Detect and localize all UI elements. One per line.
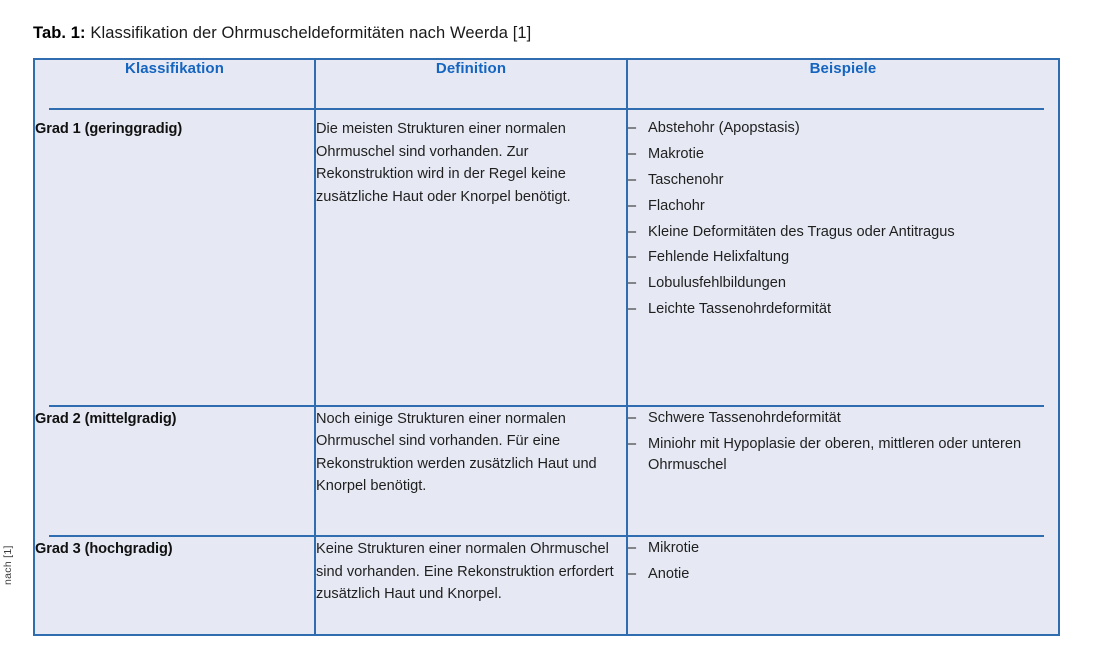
grade-label: Grad 1 (geringgradig) — [35, 121, 182, 137]
definition-text: Noch einige Strukturen einer normalen Oh… — [316, 411, 597, 495]
separator-line — [316, 535, 626, 537]
list-item: –Abstehohr (Apopstasis) — [628, 118, 1058, 140]
list-item-label: Schwere Tassenohrdeformität — [648, 408, 1058, 430]
table-caption: Tab. 1: Klassifikation der Ohrmuscheldef… — [33, 24, 531, 43]
list-item-label: Mikrotie — [648, 538, 1058, 560]
examples-list: –Schwere Tassenohrdeformität–Miniohr mit… — [628, 408, 1058, 478]
definition-text: Keine Strukturen einer normalen Ohrmusch… — [316, 541, 614, 602]
dash-bullet-icon: – — [628, 273, 636, 295]
header-rule-line — [49, 108, 314, 110]
header-rule-cell-3 — [627, 108, 1058, 118]
list-item: –Anotie — [628, 564, 1058, 586]
header-rule-cell-2 — [315, 108, 627, 118]
dash-bullet-icon: – — [628, 299, 636, 321]
list-item-label: Flachohr — [648, 196, 1058, 218]
list-item: –Taschenohr — [628, 170, 1058, 192]
table-row: Grad 2 (mittelgradig) Noch einige Strukt… — [35, 408, 1058, 536]
dash-bullet-icon: – — [628, 196, 636, 218]
list-item: –Kleine Deformitäten des Tragus oder Ant… — [628, 222, 1058, 244]
source-note: nach [1] — [2, 495, 14, 585]
cell-examples: –Abstehohr (Apopstasis)–Makrotie–Taschen… — [627, 118, 1058, 405]
separator-line — [316, 405, 626, 407]
cell-classification: Grad 2 (mittelgradig) — [35, 408, 315, 536]
table-row: Grad 3 (hochgradig) Keine Strukturen ein… — [35, 538, 1058, 634]
list-item: –Flachohr — [628, 196, 1058, 218]
list-item: –Mikrotie — [628, 538, 1058, 560]
list-item: –Leichte Tassenohrdeformität — [628, 299, 1058, 321]
list-item-label: Miniohr mit Hypoplasie der oberen, mittl… — [648, 434, 1058, 478]
list-item-label: Anotie — [648, 564, 1058, 586]
separator-line — [49, 405, 314, 407]
list-item: –Miniohr mit Hypoplasie der oberen, mitt… — [628, 434, 1058, 478]
caption-text: Klassifikation der Ohrmuscheldeformitäte… — [90, 24, 531, 42]
dash-bullet-icon: – — [628, 408, 636, 430]
dash-bullet-icon: – — [628, 118, 636, 140]
classification-table: Klassifikation Definition Beispiele Grad… — [33, 58, 1060, 636]
definition-text: Die meisten Strukturen einer normalen Oh… — [316, 121, 571, 205]
list-item-label: Makrotie — [648, 144, 1058, 166]
dash-bullet-icon: – — [628, 434, 636, 456]
table: Klassifikation Definition Beispiele Grad… — [35, 60, 1058, 634]
cell-examples: –Schwere Tassenohrdeformität–Miniohr mit… — [627, 408, 1058, 536]
grade-label: Grad 2 (mittelgradig) — [35, 411, 176, 427]
list-item-label: Fehlende Helixfaltung — [648, 247, 1058, 269]
dash-bullet-icon: – — [628, 247, 636, 269]
examples-list: –Mikrotie–Anotie — [628, 538, 1058, 586]
separator-line — [628, 405, 1044, 407]
cell-classification: Grad 1 (geringgradig) — [35, 118, 315, 405]
separator-line — [49, 535, 314, 537]
list-item-label: Abstehohr (Apopstasis) — [648, 118, 1058, 140]
dash-bullet-icon: – — [628, 222, 636, 244]
list-item: –Lobulusfehlbildungen — [628, 273, 1058, 295]
cell-examples: –Mikrotie–Anotie — [627, 538, 1058, 634]
header-rule-cell-1 — [35, 108, 315, 118]
dash-bullet-icon: – — [628, 538, 636, 560]
list-item-label: Taschenohr — [648, 170, 1058, 192]
caption-label: Tab. 1: — [33, 24, 86, 42]
header-rule-line — [316, 108, 626, 110]
examples-list: –Abstehohr (Apopstasis)–Makrotie–Taschen… — [628, 118, 1058, 321]
cell-definition: Die meisten Strukturen einer normalen Oh… — [315, 118, 627, 405]
column-header-beispiele: Beispiele — [627, 60, 1058, 108]
grade-label: Grad 3 (hochgradig) — [35, 541, 173, 557]
cell-definition: Noch einige Strukturen einer normalen Oh… — [315, 408, 627, 536]
separator-line — [628, 535, 1044, 537]
cell-definition: Keine Strukturen einer normalen Ohrmusch… — [315, 538, 627, 634]
list-item: –Fehlende Helixfaltung — [628, 247, 1058, 269]
table-header-row: Klassifikation Definition Beispiele — [35, 60, 1058, 108]
header-rule-line — [628, 108, 1044, 110]
list-item-label: Lobulusfehlbildungen — [648, 273, 1058, 295]
list-item-label: Kleine Deformitäten des Tragus oder Anti… — [648, 222, 1058, 244]
dash-bullet-icon: – — [628, 564, 636, 586]
cell-classification: Grad 3 (hochgradig) — [35, 538, 315, 634]
dash-bullet-icon: – — [628, 170, 636, 192]
list-item: –Makrotie — [628, 144, 1058, 166]
column-header-klassifikation: Klassifikation — [35, 60, 315, 108]
table-row: Grad 1 (geringgradig) Die meisten Strukt… — [35, 118, 1058, 405]
dash-bullet-icon: – — [628, 144, 636, 166]
list-item: –Schwere Tassenohrdeformität — [628, 408, 1058, 430]
header-rule-row — [35, 108, 1058, 118]
column-header-definition: Definition — [315, 60, 627, 108]
list-item-label: Leichte Tassenohrdeformität — [648, 299, 1058, 321]
